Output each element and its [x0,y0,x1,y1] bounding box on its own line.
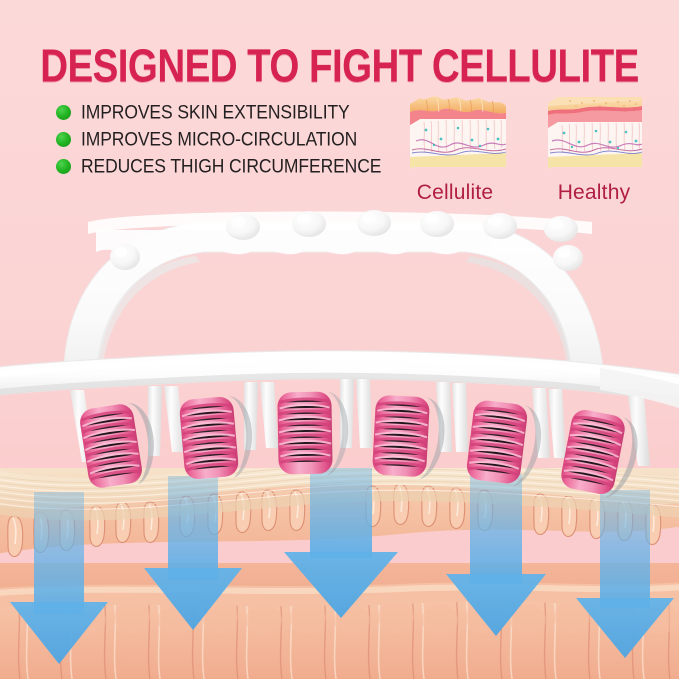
downward-pressure-arrow [10,492,108,664]
benefit-label: REDUCES THIGH CIRCUMFERENCE [81,155,381,178]
green-bullet-icon [56,159,71,174]
roller-unit [548,389,650,501]
roller-unit [452,383,550,489]
roller-unit [260,379,354,476]
benefits-list: IMPROVES SKIN EXTENSIBILITY IMPROVES MIC… [56,99,381,180]
benefit-label: IMPROVES MICRO-CIRCULATION [81,128,357,151]
skin-cross-section-healthy-icon [542,95,646,175]
green-bullet-icon [56,105,71,120]
list-item: IMPROVES MICRO-CIRCULATION [56,126,381,153]
roller-unit [356,379,452,480]
green-bullet-icon [56,132,71,147]
skin-cross-section-cellulite-icon [406,95,510,175]
list-item: IMPROVES SKIN EXTENSIBILITY [56,99,381,126]
roller-unit [70,386,162,490]
benefit-label: IMPROVES SKIN EXTENSIBILITY [81,101,350,124]
massage-roller [277,391,349,475]
page-title: DESIGNED TO FIGHT CELLULITE [20,40,658,93]
massage-roller [465,399,545,489]
downward-pressure-arrow [576,490,674,658]
massage-roller [559,408,643,502]
massage-roller [372,395,446,481]
list-item: REDUCES THIGH CIRCUMFERENCE [56,153,381,180]
product-infographic: DESIGNED TO FIGHT CELLULITE IMPROVES SKI… [0,0,679,679]
cellulite-massage-roller[interactable] [0,200,679,510]
roller-unit [164,382,258,480]
